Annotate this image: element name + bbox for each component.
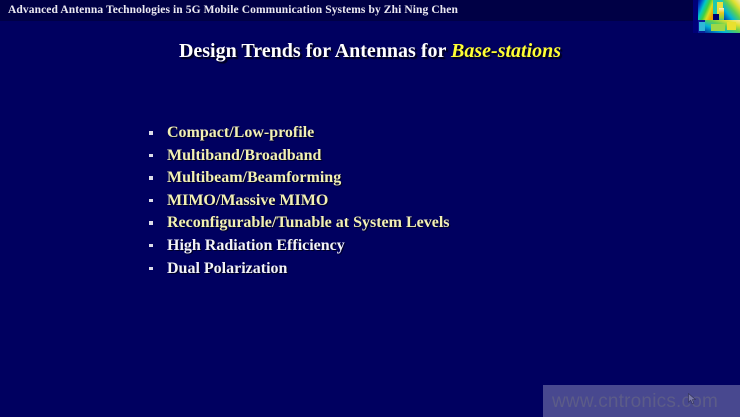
slide-title-prefix: Design Trends for Antennas for <box>179 40 451 62</box>
list-item-label: MIMO/Massive MIMO <box>167 190 328 213</box>
bullet-marker-icon <box>149 176 153 180</box>
list-item-label: Multiband/Broadband <box>167 145 321 168</box>
mouse-cursor-icon <box>688 392 697 404</box>
bullet-marker-icon <box>149 267 153 271</box>
slide-title-emphasis: Base-stations <box>451 40 561 62</box>
list-item-label: Dual Polarization <box>167 258 287 281</box>
presentation-header-title: Advanced Antenna Technologies in 5G Mobi… <box>8 3 668 17</box>
list-item: Reconfigurable/Tunable at System Levels <box>146 212 706 235</box>
presentation-slide: Advanced Antenna Technologies in 5G Mobi… <box>0 0 740 417</box>
bullet-marker-icon <box>149 244 153 248</box>
list-item: Multibeam/Beamforming <box>146 167 706 190</box>
list-item-label: Compact/Low-profile <box>167 122 314 145</box>
list-item-label: Reconfigurable/Tunable at System Levels <box>167 212 450 235</box>
list-item: Dual Polarization <box>146 258 706 281</box>
bullet-list: Compact/Low-profile Multiband/Broadband … <box>146 122 706 280</box>
bullet-marker-icon <box>149 199 153 203</box>
list-item-label: Multibeam/Beamforming <box>167 167 341 190</box>
list-item: MIMO/Massive MIMO <box>146 190 706 213</box>
slide-title: Design Trends for Antennas for Base-stat… <box>0 38 740 64</box>
bullet-marker-icon <box>149 154 153 158</box>
list-item: High Radiation Efficiency <box>146 235 706 258</box>
bullet-marker-icon <box>149 131 153 135</box>
antenna-simulation-thumbnail-icon <box>693 0 740 33</box>
list-item: Compact/Low-profile <box>146 122 706 145</box>
bullet-marker-icon <box>149 221 153 225</box>
list-item: Multiband/Broadband <box>146 145 706 168</box>
list-item-label: High Radiation Efficiency <box>167 235 345 258</box>
